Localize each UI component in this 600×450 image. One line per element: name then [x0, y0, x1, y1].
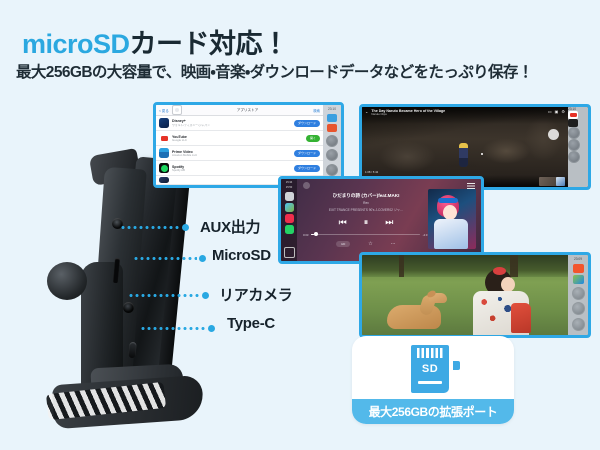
- photos-icon[interactable]: [285, 203, 294, 212]
- back-button[interactable]: < 戻る: [159, 108, 169, 113]
- next-icon[interactable]: ⏭: [385, 218, 393, 227]
- video-top-overlay: ⌄ The Day Naruto Became Hero of the Vill…: [362, 107, 568, 124]
- child-sleeve: [511, 303, 531, 333]
- previous-icon[interactable]: ⏮: [339, 218, 347, 227]
- recents-icon[interactable]: [572, 318, 585, 331]
- recents-icon[interactable]: [326, 164, 338, 176]
- home-icon[interactable]: [568, 139, 580, 151]
- device-side-view: [55, 150, 215, 425]
- app-publisher: ウォルト・ディズニー・ジャパン: [172, 124, 291, 127]
- sd-card-underline: [418, 381, 442, 384]
- song-title: ひだまりの詩 (カバー)feat.MAKI: [303, 193, 429, 199]
- list-item[interactable]: Spotify Spotify AB ダウンロード: [156, 161, 323, 176]
- system-nav-rail: 23:10: [568, 107, 588, 187]
- app-meta: Prime Video Amazon Mobile LLC: [172, 150, 291, 158]
- video-title-block: The Day Naruto Became Hero of the Villag…: [371, 109, 445, 117]
- video-channel: Naruto Clips: [371, 113, 445, 116]
- callout-endpoint-icon: [182, 224, 189, 231]
- sd-card-label: SD: [411, 363, 449, 375]
- page-title-rest: カード対応！: [130, 29, 289, 59]
- app-publisher: Google LLC: [172, 139, 303, 142]
- music-main: ひだまりの詩 (カバー)feat.MAKI Rev EXIT TRANCE PR…: [297, 179, 481, 261]
- music-side-rail: 15:34 15:50: [281, 179, 297, 261]
- song-artist: Rev: [303, 201, 429, 205]
- video-surface[interactable]: ⌄ The Day Naruto Became Hero of the Vill…: [362, 107, 568, 187]
- app-meta: YouTube Google LLC: [172, 135, 303, 143]
- music-player-screen: 15:34 15:50 ひだまりの詩 (カバー)feat.MAKI Rev EX…: [278, 176, 484, 264]
- download-button[interactable]: ダウンロード: [294, 120, 320, 127]
- app-icon-disney: [159, 118, 169, 128]
- callout-line-microsd: [133, 255, 211, 262]
- callout-line-typec: [140, 325, 220, 332]
- quality-badge[interactable]: HD: [336, 241, 350, 247]
- back-icon[interactable]: [568, 127, 580, 139]
- album-artwork: [428, 189, 476, 249]
- back-icon[interactable]: [303, 182, 310, 189]
- home-icon[interactable]: [326, 149, 338, 161]
- app-icon-youtube: [159, 133, 169, 143]
- sd-badge-caption: 最大256GBの拡張ポート: [369, 403, 498, 420]
- video-timestamp: 1:08 / 5:42: [365, 170, 378, 174]
- status-clock: 15:34: [286, 181, 293, 184]
- artwork-headphones: [438, 198, 458, 203]
- photo-viewer-screen: 23:09: [359, 252, 591, 338]
- store-logo-icon: [172, 105, 182, 115]
- app-shortcut-icon[interactable]: [568, 119, 578, 127]
- callout-dots: [133, 257, 197, 260]
- app-shortcut-icon[interactable]: [573, 264, 584, 273]
- callout-endpoint-icon: [208, 325, 215, 332]
- battery-icon: [285, 192, 294, 201]
- callout-line-aux: [120, 224, 194, 231]
- app-meta: Spotify Spotify AB: [172, 165, 291, 173]
- sd-badge-caption-bar: 最大256GBの拡張ポート: [352, 399, 514, 424]
- sd-card-badge: SD 最大256GBの拡張ポート: [352, 336, 514, 424]
- chevron-down-icon[interactable]: ⌄: [365, 109, 368, 114]
- pause-icon[interactable]: ⏸: [364, 218, 369, 227]
- pause-button[interactable]: [548, 129, 559, 140]
- list-item[interactable]: Disney+ ウォルト・ディズニー・ジャパン ダウンロード: [156, 116, 323, 131]
- favorite-star-icon[interactable]: ☆: [368, 241, 372, 247]
- progress-row: 0:03 -4:47: [303, 233, 429, 237]
- status-clock: 23:10: [568, 107, 588, 111]
- promo-page: microSDカード対応！ 最大256GBの大容量で、映画・音楽・ダウンロードデ…: [0, 0, 600, 450]
- sd-card-pins: [417, 348, 443, 358]
- photo-surface[interactable]: [362, 255, 568, 335]
- download-button[interactable]: ダウンロード: [294, 150, 320, 157]
- device-adjust-knob: [47, 262, 87, 300]
- music-app-icon[interactable]: [285, 214, 294, 223]
- music-header: [303, 182, 475, 189]
- open-button[interactable]: 開く: [306, 135, 320, 142]
- callout-label-microsd: MicroSD: [212, 247, 271, 264]
- child-face: [501, 277, 515, 292]
- callout-label-typec: Type-C: [227, 315, 275, 332]
- list-item[interactable]: YouTube Google LLC 開く: [156, 131, 323, 146]
- song-album: EXIT TRANCE PRESENTS 90's J-COVER02 ジャ…: [303, 207, 429, 212]
- back-icon[interactable]: [326, 135, 338, 147]
- app-shortcut-icon[interactable]: [327, 124, 337, 132]
- photo-tree-trunk: [399, 255, 404, 277]
- app-icon-spotify: [159, 163, 169, 173]
- video-character: [459, 143, 468, 167]
- app-publisher: Amazon Mobile LLC: [172, 154, 291, 157]
- list-item[interactable]: Prime Video Amazon Mobile LLC ダウンロード: [156, 146, 323, 161]
- callout-line-rearcam: [128, 292, 214, 299]
- callout-dots: [120, 226, 180, 229]
- sd-card-notch: [453, 361, 460, 370]
- cast-icon[interactable]: ▭: [548, 109, 552, 114]
- callout-endpoint-icon: [202, 292, 209, 299]
- more-options-icon[interactable]: ⋯: [391, 241, 396, 247]
- back-icon[interactable]: [572, 287, 585, 300]
- settings-icon[interactable]: ⚙: [561, 109, 565, 114]
- app-shortcut-icon[interactable]: [327, 114, 337, 122]
- microsd-card-icon: SD: [411, 345, 455, 393]
- system-nav-rail: 23:10: [323, 105, 341, 185]
- status-clock: 23:10: [328, 107, 336, 111]
- page-title-accent: microSD: [22, 29, 130, 59]
- home-icon[interactable]: [284, 247, 295, 258]
- callout-dots: [140, 327, 206, 330]
- status-clock: 23:09: [574, 257, 582, 261]
- page-subtitle: 最大256GBの大容量で、映画・音楽・ダウンロードデータなどをたっぷり保存！: [16, 60, 533, 82]
- system-nav-rail: 23:09: [568, 255, 588, 335]
- artwork-body: [434, 219, 468, 249]
- youtube-icon[interactable]: [568, 111, 578, 119]
- photo-deer: [387, 295, 451, 329]
- app-icon-prime-video: [159, 148, 169, 158]
- home-icon[interactable]: [572, 302, 585, 315]
- recents-icon[interactable]: [568, 151, 580, 163]
- artwork-face: [443, 205, 457, 220]
- photo-background-trees: [362, 255, 568, 277]
- status-clock-secondary: 15:50: [286, 186, 293, 189]
- progress-slider[interactable]: [311, 234, 419, 236]
- queue-icon[interactable]: [467, 183, 475, 189]
- app-meta: Disney+ ウォルト・ディズニー・ジャパン: [172, 119, 291, 127]
- callout-dots: [128, 294, 200, 297]
- app-store-toolbar: < 戻る アプリストア 検索: [156, 105, 323, 116]
- gallery-icon[interactable]: [573, 275, 584, 284]
- app-store-title: アプリストア: [185, 108, 311, 113]
- page-title: microSDカード対応！: [22, 22, 289, 61]
- elapsed-time: 0:03: [303, 233, 308, 237]
- secondary-controls: HD ☆ ⋯: [303, 241, 429, 247]
- callout-label-aux: AUX出力: [200, 216, 260, 237]
- search-button[interactable]: 検索: [313, 108, 320, 113]
- download-button[interactable]: ダウンロード: [294, 165, 320, 172]
- app-store-body: < 戻る アプリストア 検索 Disney+ ウォルト・ディズニー・ジャパン ダ…: [156, 105, 323, 185]
- messages-icon[interactable]: [285, 225, 294, 234]
- closed-caption-icon[interactable]: ▣: [555, 109, 559, 114]
- photo-child: [471, 269, 533, 335]
- callout-endpoint-icon: [199, 255, 206, 262]
- video-next-thumbnail-2[interactable]: [556, 177, 565, 186]
- callout-label-rearcam: リアカメラ: [219, 284, 293, 305]
- video-top-icons: ▭ ▣ ⚙: [548, 109, 565, 114]
- playback-controls: ⏮ ⏸ ⏭: [303, 218, 429, 227]
- app-icon-next: [159, 177, 169, 183]
- app-publisher: Spotify AB: [172, 169, 291, 172]
